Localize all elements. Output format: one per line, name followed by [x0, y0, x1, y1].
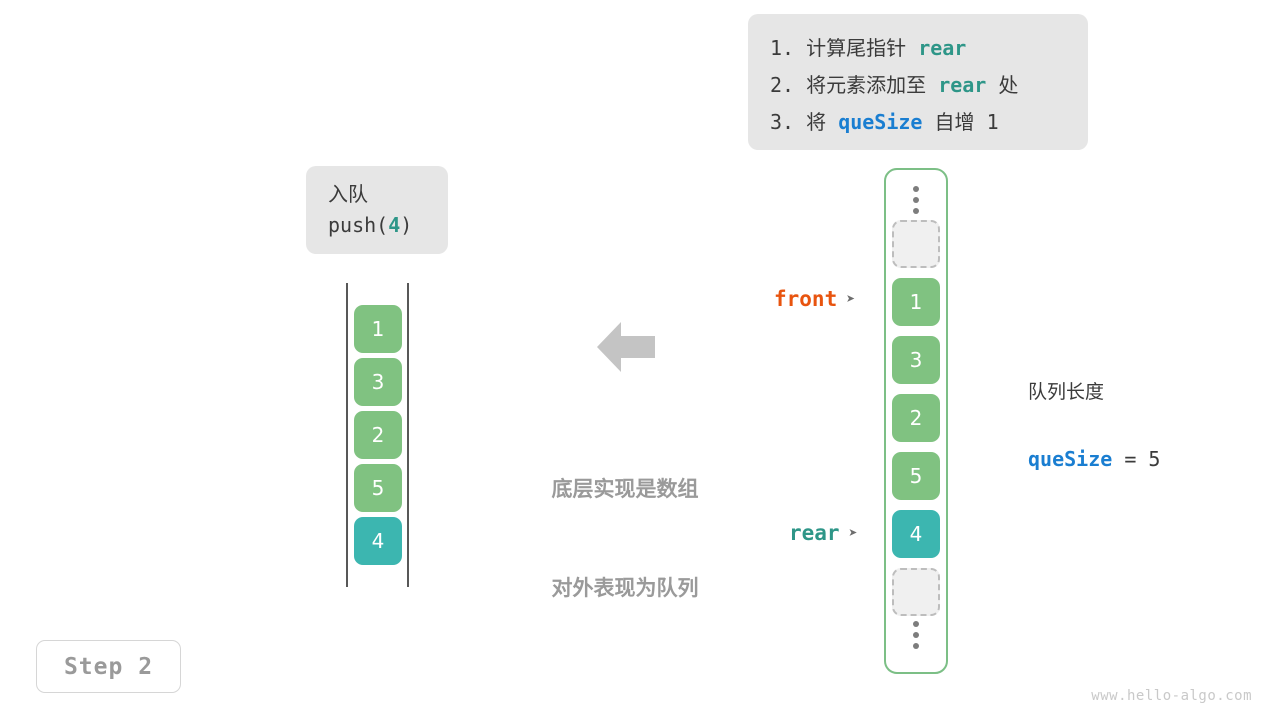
instruction-1-index: 1. — [770, 36, 794, 60]
queue-abstract-view: 1 3 2 5 4 — [340, 283, 414, 587]
queue-cell: 1 — [354, 305, 402, 353]
queue-cell: 3 — [354, 358, 402, 406]
operation-code-suffix: ) — [400, 213, 412, 237]
left-arrow-icon — [597, 320, 655, 374]
instruction-panel: 1. 计算尾指针 rear 2. 将元素添加至 rear 处 3. 将 queS… — [748, 14, 1088, 150]
array-cell-new: 4 — [892, 510, 940, 558]
rear-pointer-arrow-icon: ➤ — [849, 524, 858, 542]
queue-cell-new: 4 — [354, 517, 402, 565]
front-pointer-arrow-icon: ➤ — [846, 290, 855, 308]
transform-caption: 底层实现是数组 对外表现为队列 — [520, 407, 730, 671]
vertical-ellipsis-icon-bottom — [913, 621, 919, 649]
array-cell-empty — [892, 220, 940, 268]
instruction-3-index: 3. — [770, 110, 794, 134]
queue-size-annotation: 队列长度 queSize = 5 — [1028, 341, 1160, 511]
instruction-item-2: 2. 将元素添加至 rear 处 — [770, 67, 1068, 104]
queue-rail-right — [407, 283, 409, 587]
array-cell-list: 1 3 2 5 4 — [892, 220, 940, 616]
instruction-3-post: 自增 1 — [922, 110, 998, 134]
array-implementation-view: 1 3 2 5 4 — [884, 168, 948, 674]
queue-rail-left — [346, 283, 348, 587]
operation-code-prefix: push( — [328, 213, 388, 237]
operation-title: 入队 — [328, 179, 448, 209]
instruction-2-text: 将元素添加至 — [806, 73, 938, 97]
diagram-canvas: 1. 计算尾指针 rear 2. 将元素添加至 rear 处 3. 将 queS… — [0, 0, 1280, 720]
rear-pointer-label: rear ➤ — [789, 521, 858, 545]
transform-caption-line-2: 对外表现为队列 — [520, 572, 730, 605]
queue-size-title: 队列长度 — [1028, 377, 1160, 407]
instruction-item-1: 1. 计算尾指针 rear — [770, 30, 1068, 67]
rear-pointer-text: rear — [789, 521, 840, 545]
transform-caption-line-1: 底层实现是数组 — [520, 473, 730, 506]
array-cell: 1 — [892, 278, 940, 326]
queue-size-value: 5 — [1148, 447, 1160, 471]
array-cell: 3 — [892, 336, 940, 384]
instruction-1-keyword: rear — [918, 36, 966, 60]
instruction-2-post: 处 — [986, 73, 1018, 97]
queue-cell: 5 — [354, 464, 402, 512]
array-cell-empty — [892, 568, 940, 616]
queue-cell-list: 1 3 2 5 4 — [354, 305, 402, 565]
queue-cell: 2 — [354, 411, 402, 459]
queue-size-variable: queSize — [1028, 447, 1112, 471]
operation-label-box: 入队 push(4) — [306, 166, 448, 254]
vertical-ellipsis-icon-top — [913, 186, 919, 214]
instruction-1-text: 计算尾指针 — [806, 36, 918, 60]
watermark: www.hello-algo.com — [1091, 688, 1252, 704]
instruction-item-3: 3. 将 queSize 自增 1 — [770, 104, 1068, 141]
queue-size-expression: queSize = 5 — [1028, 443, 1160, 475]
instruction-2-index: 2. — [770, 73, 794, 97]
instruction-2-keyword: rear — [938, 73, 986, 97]
instruction-3-text: 将 — [806, 110, 838, 134]
front-pointer-text: front — [774, 287, 837, 311]
queue-size-equals: = — [1112, 447, 1148, 471]
operation-code: push(4) — [328, 209, 448, 241]
array-cell: 2 — [892, 394, 940, 442]
operation-code-argument: 4 — [388, 213, 400, 237]
step-badge: Step 2 — [36, 640, 181, 693]
front-pointer-label: front ➤ — [774, 287, 855, 311]
array-cell: 5 — [892, 452, 940, 500]
instruction-3-keyword: queSize — [838, 110, 922, 134]
